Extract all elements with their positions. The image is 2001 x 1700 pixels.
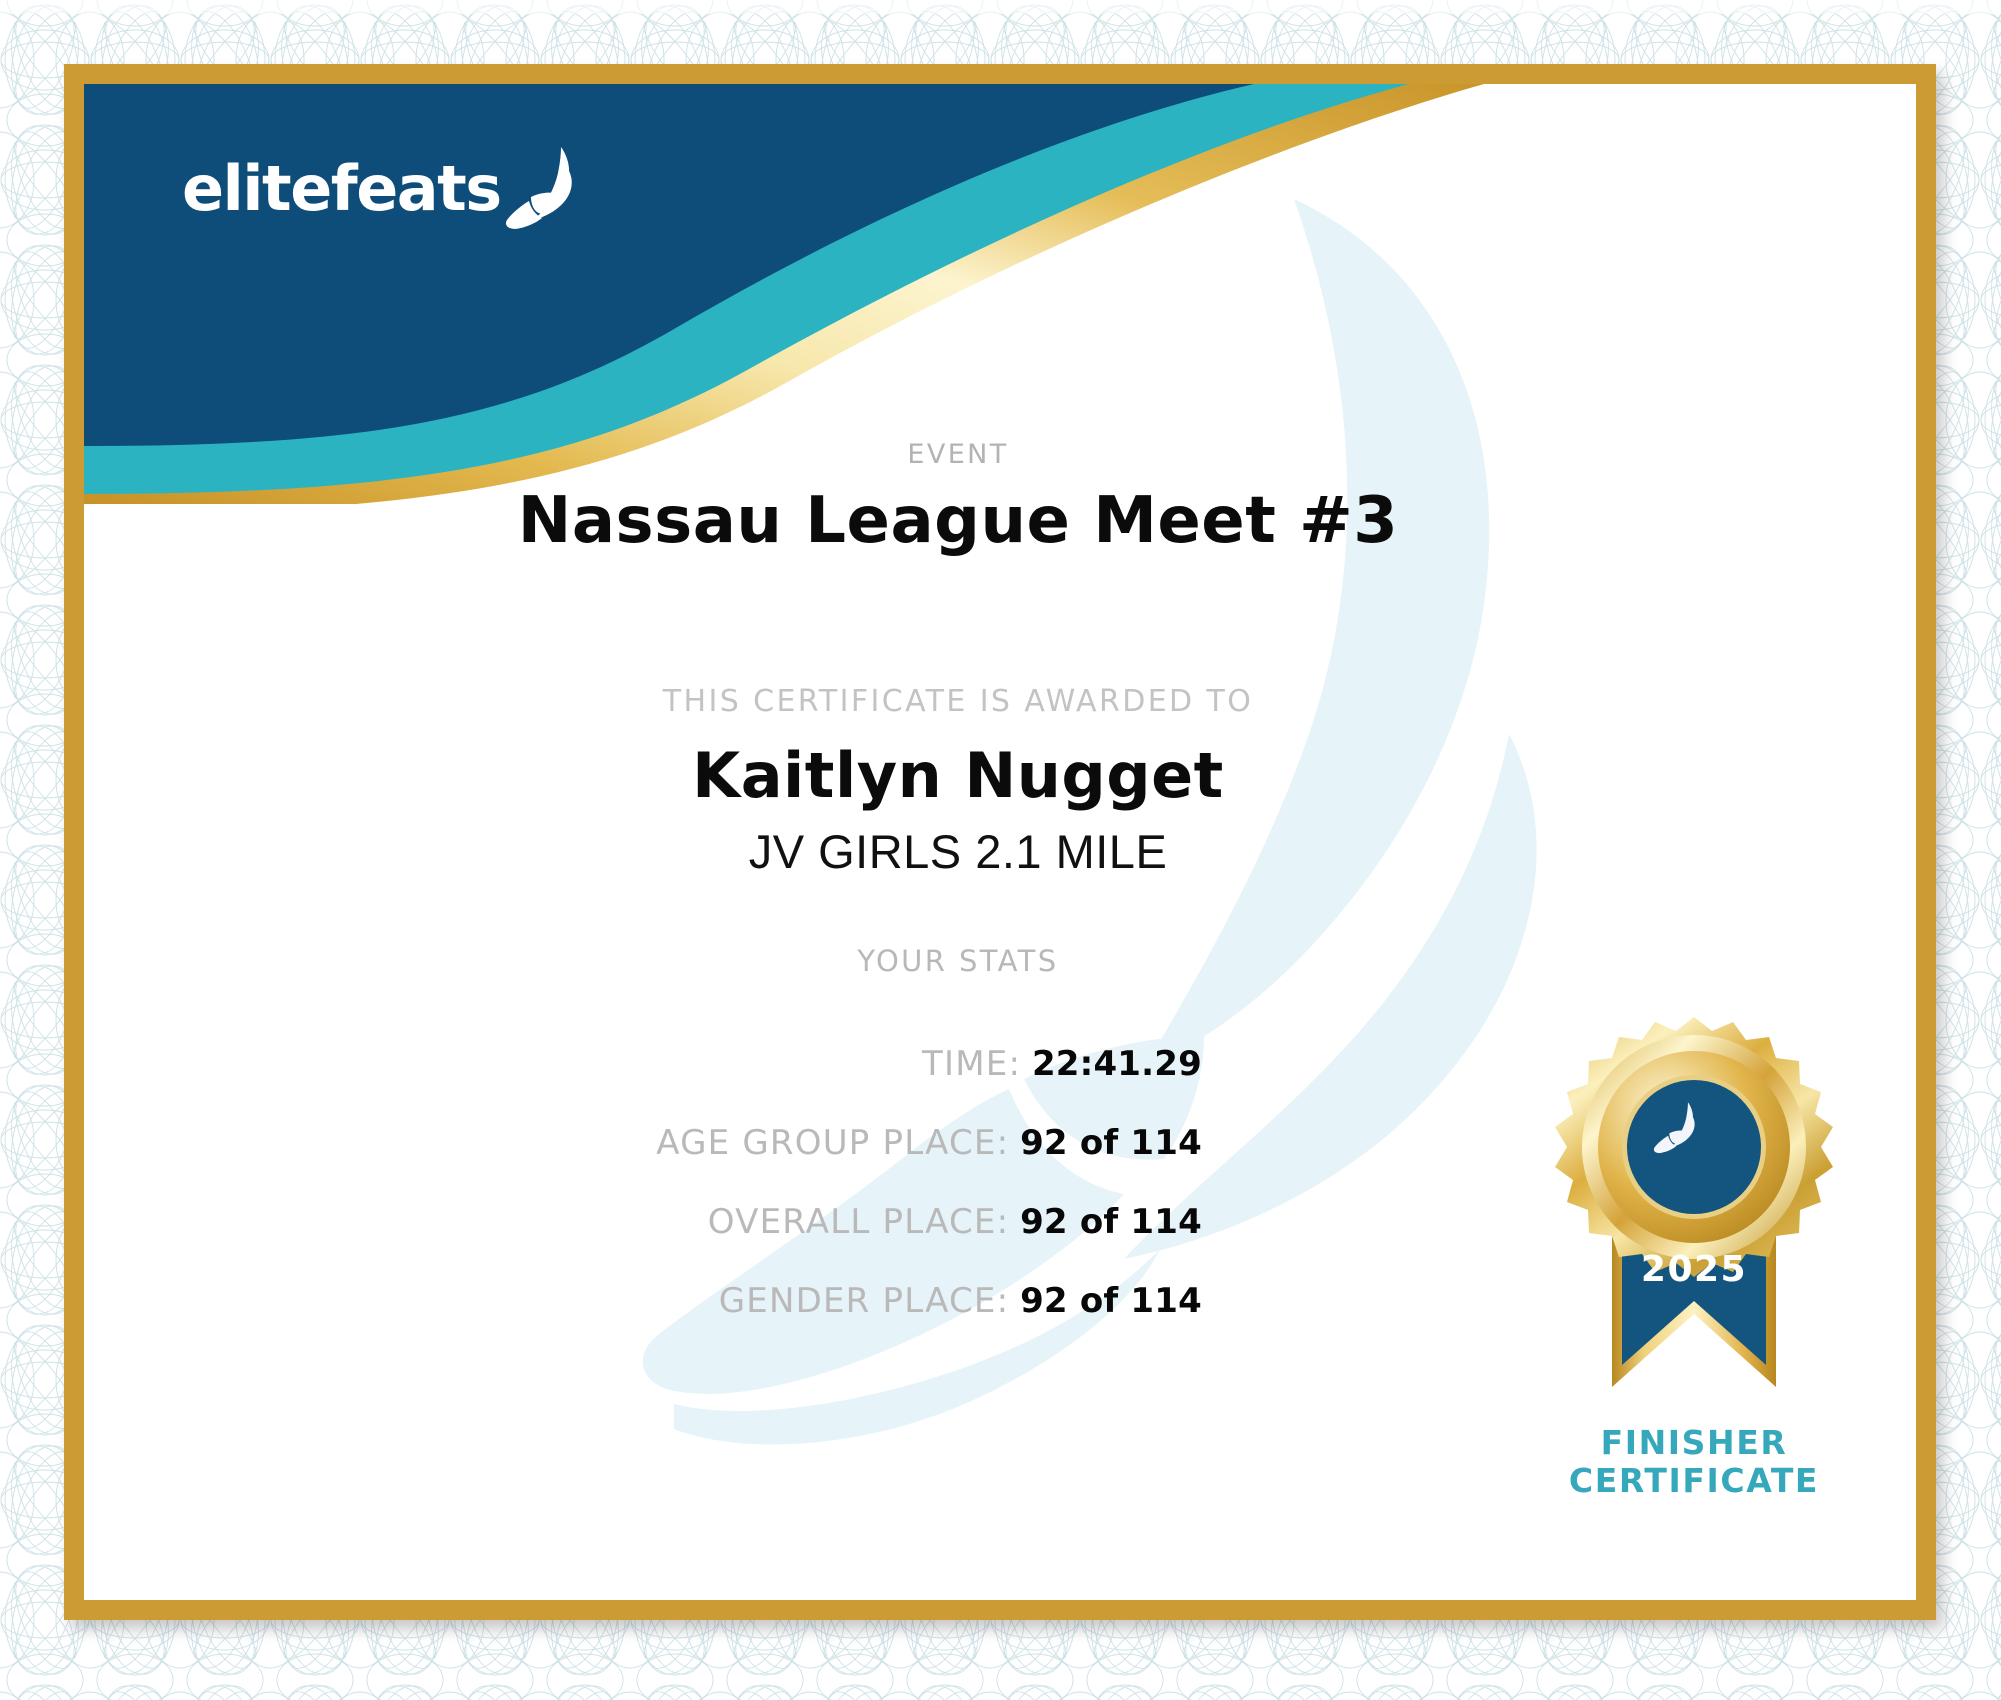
stat-key: OVERALL PLACE: <box>708 1202 1009 1242</box>
stat-key: GENDER PLACE: <box>719 1281 1010 1321</box>
event-title: Nassau League Meet #3 <box>84 484 1874 558</box>
stat-value: 92 of 114 <box>1020 1202 1202 1242</box>
your-stats-label: YOUR STATS <box>84 944 1874 978</box>
stat-row-overall-place: OVERALL PLACE: 92 of 114 <box>84 1202 1202 1242</box>
stat-value: 22:41.29 <box>1032 1044 1202 1084</box>
stat-row-age-group-place: AGE GROUP PLACE: 92 of 114 <box>84 1123 1202 1163</box>
stat-value: 92 of 114 <box>1020 1123 1202 1163</box>
stats-list: TIME: 22:41.29 AGE GROUP PLACE: 92 of 11… <box>84 1044 1202 1360</box>
winged-foot-icon <box>503 145 579 229</box>
stat-key: AGE GROUP PLACE: <box>656 1123 1009 1163</box>
finisher-caption-line2: CERTIFICATE <box>1479 1462 1909 1500</box>
awarded-to-label: THIS CERTIFICATE IS AWARDED TO <box>84 684 1874 719</box>
certificate-inner: elitefeats EVENT Nassau League Meet #3 T… <box>84 84 1916 1600</box>
brand-logo: elitefeats <box>182 144 579 234</box>
stat-key: TIME: <box>922 1044 1021 1084</box>
stat-row-time: TIME: 22:41.29 <box>84 1044 1202 1084</box>
recipient-name: Kaitlyn Nugget <box>84 739 1874 812</box>
finisher-medal-badge: 2025 <box>1534 1009 1854 1409</box>
recipient-division: JV GIRLS 2.1 MILE <box>84 824 1874 879</box>
badge-year: 2025 <box>1641 1249 1747 1290</box>
finisher-certificate-caption: FINISHER CERTIFICATE <box>1479 1424 1909 1500</box>
brand-wordmark: elitefeats <box>182 158 501 220</box>
event-label: EVENT <box>84 439 1874 470</box>
medal-starburst <box>1555 1017 1833 1277</box>
stat-row-gender-place: GENDER PLACE: 92 of 114 <box>84 1281 1202 1321</box>
stat-value: 92 of 114 <box>1020 1281 1202 1321</box>
finisher-caption-line1: FINISHER <box>1479 1424 1909 1462</box>
certificate-card: elitefeats EVENT Nassau League Meet #3 T… <box>64 64 1936 1620</box>
